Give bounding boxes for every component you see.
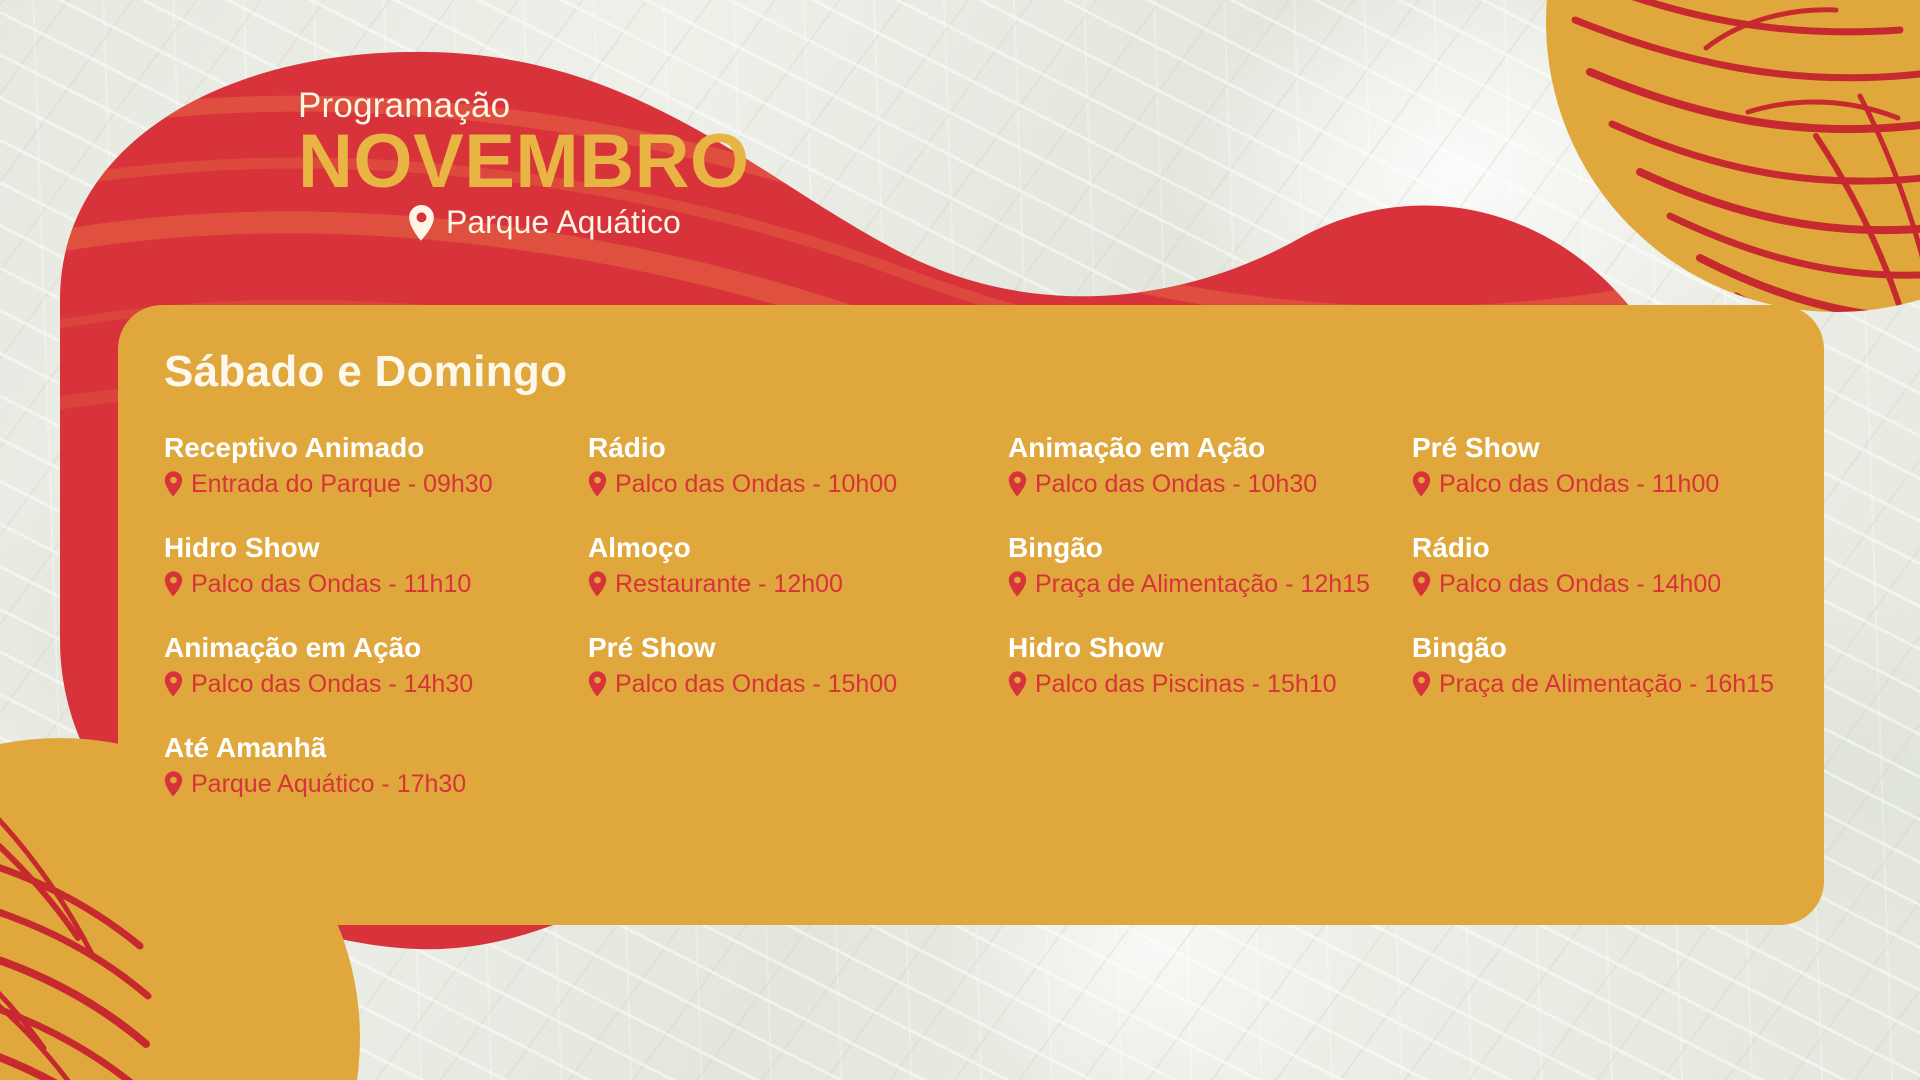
card-title: Sábado e Domingo (164, 347, 1778, 397)
event-item: RádioPalco das Ondas - 10h00 (588, 431, 1008, 499)
event-location: Parque Aquático - 17h30 (191, 769, 466, 799)
event-meta: Palco das Ondas - 15h00 (588, 669, 1002, 699)
event-meta: Entrada do Parque - 09h30 (164, 469, 582, 499)
event-location: Restaurante - 12h00 (615, 569, 843, 599)
location-pin-icon (164, 471, 183, 497)
event-title: Pré Show (1412, 431, 1774, 464)
location-pin-icon (588, 671, 607, 697)
header-venue-label: Parque Aquático (446, 204, 681, 241)
event-item: RádioPalco das Ondas - 14h00 (1412, 531, 1780, 599)
event-meta: Praça de Alimentação - 16h15 (1412, 669, 1774, 699)
event-meta: Parque Aquático - 17h30 (164, 769, 582, 799)
event-meta: Praça de Alimentação - 12h15 (1008, 569, 1406, 599)
event-location: Entrada do Parque - 09h30 (191, 469, 493, 499)
event-item: BingãoPraça de Alimentação - 16h15 (1412, 631, 1780, 699)
event-meta: Palco das Piscinas - 15h10 (1008, 669, 1406, 699)
event-meta: Palco das Ondas - 14h30 (164, 669, 582, 699)
event-title: Hidro Show (164, 531, 582, 564)
event-title: Receptivo Animado (164, 431, 582, 464)
event-grid: Receptivo AnimadoEntrada do Parque - 09h… (164, 431, 1778, 799)
location-pin-icon (164, 571, 183, 597)
event-meta: Restaurante - 12h00 (588, 569, 1002, 599)
event-title: Animação em Ação (164, 631, 582, 664)
schedule-card: Sábado e Domingo Receptivo AnimadoEntrad… (118, 305, 1824, 925)
event-title: Rádio (588, 431, 1002, 464)
event-item: Hidro ShowPalco das Ondas - 11h10 (164, 531, 588, 599)
event-item: BingãoPraça de Alimentação - 12h15 (1008, 531, 1412, 599)
event-item: Animação em AçãoPalco das Ondas - 14h30 (164, 631, 588, 699)
event-location: Palco das Ondas - 11h10 (191, 569, 471, 599)
event-meta: Palco das Ondas - 14h00 (1412, 569, 1774, 599)
header-month-title: NOVEMBRO (298, 123, 750, 201)
event-title: Almoço (588, 531, 1002, 564)
event-title: Hidro Show (1008, 631, 1406, 664)
event-location: Palco das Ondas - 14h30 (191, 669, 473, 699)
event-meta: Palco das Ondas - 11h10 (164, 569, 582, 599)
event-location: Praça de Alimentação - 16h15 (1439, 669, 1774, 699)
event-location: Palco das Ondas - 15h00 (615, 669, 897, 699)
event-item: AlmoçoRestaurante - 12h00 (588, 531, 1008, 599)
event-title: Rádio (1412, 531, 1774, 564)
location-pin-icon (408, 205, 435, 241)
location-pin-icon (588, 471, 607, 497)
location-pin-icon (1412, 671, 1431, 697)
event-location: Palco das Ondas - 11h00 (1439, 469, 1719, 499)
event-item: Animação em AçãoPalco das Ondas - 10h30 (1008, 431, 1412, 499)
event-meta: Palco das Ondas - 10h00 (588, 469, 1002, 499)
event-location: Palco das Piscinas - 15h10 (1035, 669, 1337, 699)
event-title: Bingão (1008, 531, 1406, 564)
event-location: Palco das Ondas - 14h00 (1439, 569, 1721, 599)
location-pin-icon (1412, 571, 1431, 597)
location-pin-icon (1008, 471, 1027, 497)
event-title: Até Amanhã (164, 731, 582, 764)
location-pin-icon (1412, 471, 1431, 497)
event-title: Animação em Ação (1008, 431, 1406, 464)
event-title: Pré Show (588, 631, 1002, 664)
event-item: Pré ShowPalco das Ondas - 11h00 (1412, 431, 1780, 499)
location-pin-icon (1008, 571, 1027, 597)
event-location: Palco das Ondas - 10h30 (1035, 469, 1317, 499)
event-title: Bingão (1412, 631, 1774, 664)
event-item: Hidro ShowPalco das Piscinas - 15h10 (1008, 631, 1412, 699)
header-block: Programação NOVEMBRO Parque Aquático (298, 88, 750, 241)
event-meta: Palco das Ondas - 11h00 (1412, 469, 1774, 499)
event-item: Receptivo AnimadoEntrada do Parque - 09h… (164, 431, 588, 499)
location-pin-icon (588, 571, 607, 597)
event-location: Palco das Ondas - 10h00 (615, 469, 897, 499)
event-item: Até AmanhãParque Aquático - 17h30 (164, 731, 588, 799)
location-pin-icon (164, 771, 183, 797)
event-location: Praça de Alimentação - 12h15 (1035, 569, 1370, 599)
header-venue-row: Parque Aquático (408, 204, 750, 241)
event-meta: Palco das Ondas - 10h30 (1008, 469, 1406, 499)
event-item: Pré ShowPalco das Ondas - 15h00 (588, 631, 1008, 699)
location-pin-icon (164, 671, 183, 697)
location-pin-icon (1008, 671, 1027, 697)
